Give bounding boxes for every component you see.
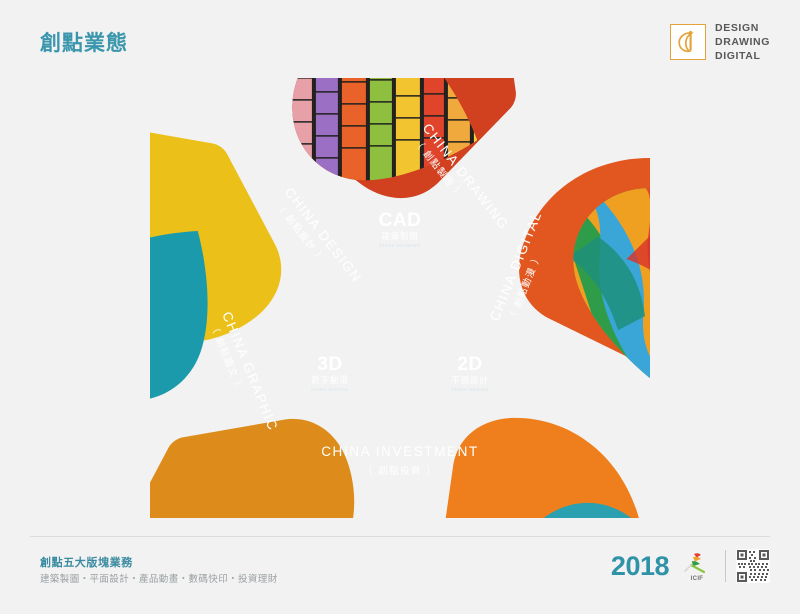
- icif-mark-icon: [682, 551, 712, 575]
- brand-mark-icon: [670, 24, 706, 60]
- footer-title: 創點五大版塊業務: [40, 554, 133, 570]
- footer-vertical-divider: [725, 550, 726, 582]
- 3d-subtitle-en: CHINA DIGITAL: [311, 387, 349, 392]
- 2d-title: 2D: [457, 354, 482, 375]
- 2d-subtitle-en: CHINA DESIGN: [451, 387, 488, 392]
- brand-line-1: DESIGN: [715, 22, 770, 35]
- cad-title: CAD: [379, 210, 422, 231]
- outer-petal-china-investment[interactable]: [150, 364, 402, 518]
- icif-logo: ICIF: [679, 551, 715, 582]
- cad-subtitle-zh: 建築製圖: [381, 231, 418, 242]
- 3d-title: 3D: [317, 354, 342, 375]
- brand-wordmark: DESIGN DRAWING DIGITAL: [715, 22, 770, 62]
- china-investment-zh: （ 創點投資 ）: [363, 465, 437, 477]
- page-footer: 創點五大版塊業務 建築製圖・平面設計・產品動畫・數碼快印・投資理財 2018 I…: [0, 544, 800, 614]
- label-3d: 3D 數字動漫 CHINA DIGITAL: [311, 354, 349, 392]
- label-china-graphic: CHINA GRAPHIC （ 創點圖文 ）: [205, 310, 281, 439]
- china-design-en: CHINA DESIGN: [282, 185, 365, 286]
- footer-right-group: 2018 ICIF: [611, 549, 770, 583]
- icif-label: ICIF: [691, 576, 704, 582]
- brand-logo: DESIGN DRAWING DIGITAL: [670, 22, 770, 62]
- 3d-subtitle-zh: 數字動漫: [311, 375, 348, 386]
- brand-line-2: DRAWING: [715, 36, 770, 49]
- china-investment-en: CHINA INVESTMENT: [321, 444, 479, 459]
- label-china-design: CHINA DESIGN （ 創點設計 ）: [270, 185, 365, 295]
- page-header: 創點業態 DESIGN DRAWING DIGITAL: [0, 0, 800, 88]
- footer-divider: [30, 536, 770, 537]
- brand-monogram-icon: [671, 25, 705, 59]
- cad-subtitle-en: CHINA DRAWING: [379, 243, 421, 248]
- qr-code-icon[interactable]: [736, 549, 770, 583]
- five-petal-diagram: CHINA DESIGN （ 創點設計 ） CHINA DRAWING （ 創點…: [150, 78, 650, 518]
- 2d-subtitle-zh: 平面設計: [451, 375, 488, 386]
- year-label: 2018: [611, 551, 669, 582]
- footer-subtitle: 建築製圖・平面設計・產品動畫・數碼快印・投資理財: [40, 571, 278, 585]
- page-title: 創點業態: [40, 27, 128, 57]
- label-cad: CAD 建築製圖 CHINA DRAWING: [379, 210, 422, 248]
- label-2d: 2D 平面設計 CHINA DESIGN: [451, 354, 488, 392]
- brand-line-3: DIGITAL: [715, 50, 770, 63]
